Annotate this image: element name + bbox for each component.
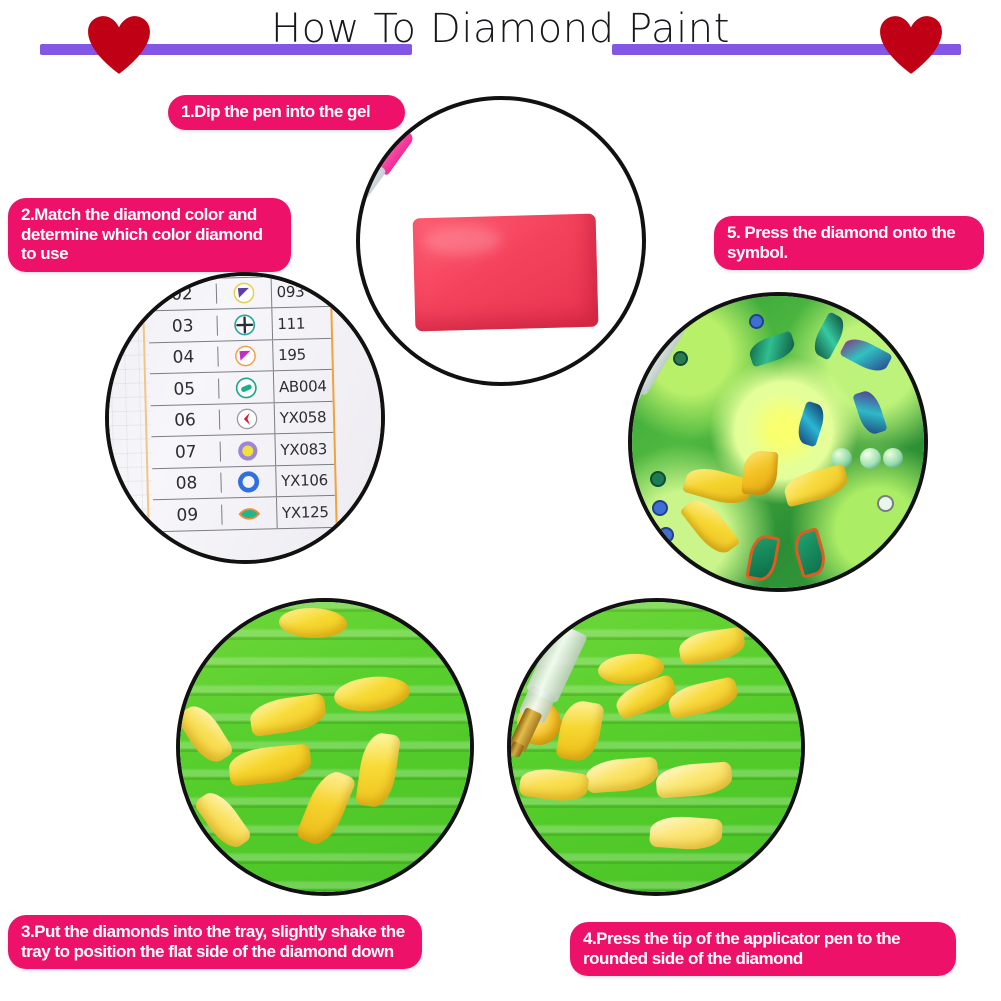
color-chart-code: YX125 <box>277 502 336 521</box>
color-chart-code: YX106 <box>276 471 335 490</box>
printed-symbol <box>658 527 674 543</box>
step-5-label: 5. Press the diamond onto the symbol. <box>714 216 984 270</box>
color-chart-number: 08 <box>152 473 222 495</box>
step-2-image: 02002093031110419505AB00406YX05807YX0830… <box>105 272 385 564</box>
color-chart-row: 03111 <box>148 307 331 343</box>
color-chart-row: 09YX125 <box>153 496 336 532</box>
printed-symbol <box>877 495 894 512</box>
step-3-image <box>176 598 474 896</box>
gem <box>883 448 903 468</box>
color-chart-code: 195 <box>273 345 332 364</box>
yellow-diamond <box>649 814 723 851</box>
ring-symbol <box>221 466 276 498</box>
color-chart-code: AB004 <box>274 376 333 395</box>
color-chart-row: 08YX106 <box>152 465 335 501</box>
color-chart-number: 02 <box>148 284 218 306</box>
triangle-symbol <box>217 277 272 309</box>
color-chart-number: 04 <box>149 347 219 369</box>
color-chart-row: 06YX058 <box>151 402 334 438</box>
color-chart-number: 05 <box>150 378 220 400</box>
color-chart-row: 02093 <box>148 276 331 312</box>
step-1-image <box>356 96 646 386</box>
color-chart-code: YX058 <box>275 408 334 427</box>
color-chart-number: 06 <box>151 410 221 432</box>
color-chart-number: 07 <box>152 441 222 463</box>
double-dot-circle-symbol <box>216 272 271 277</box>
page-title: How To Diamond Paint <box>0 6 1001 52</box>
pill-symbol <box>219 372 274 404</box>
leaf-symbol <box>222 497 277 529</box>
color-chart-code: 093 <box>272 282 331 301</box>
triangle-symbol <box>218 340 273 372</box>
color-chart-row: 05AB004 <box>150 370 333 406</box>
plus-symbol <box>218 309 273 341</box>
step-4-image <box>507 598 805 896</box>
color-chart-row: 07YX083 <box>151 433 334 469</box>
dot-in-ring-symbol <box>221 435 276 467</box>
color-chart-number: 09 <box>153 504 223 526</box>
color-chart-code: 111 <box>272 313 331 332</box>
gem <box>860 448 881 469</box>
chevron-left-symbol <box>220 403 275 435</box>
color-chart-table: 02002093031110419505AB00406YX05807YX0830… <box>147 272 336 532</box>
step-2-label: 2.Match the diamond color and determine … <box>8 198 291 272</box>
color-chart-code: YX083 <box>275 439 334 458</box>
step-1-label: 1.Dip the pen into the gel <box>168 95 405 130</box>
color-chart-number: 03 <box>148 315 218 337</box>
step-5-image <box>628 292 928 592</box>
page-header: How To Diamond Paint <box>0 0 1001 88</box>
color-chart-sheet: 02002093031110419505AB00406YX05807YX0830… <box>105 272 385 564</box>
color-chart-row: 04195 <box>149 339 332 375</box>
step-3-label: 3.Put the diamonds into the tray, slight… <box>8 915 422 969</box>
step-4-label: 4.Press the tip of the applicator pen to… <box>570 922 956 976</box>
printed-symbol <box>749 314 764 329</box>
